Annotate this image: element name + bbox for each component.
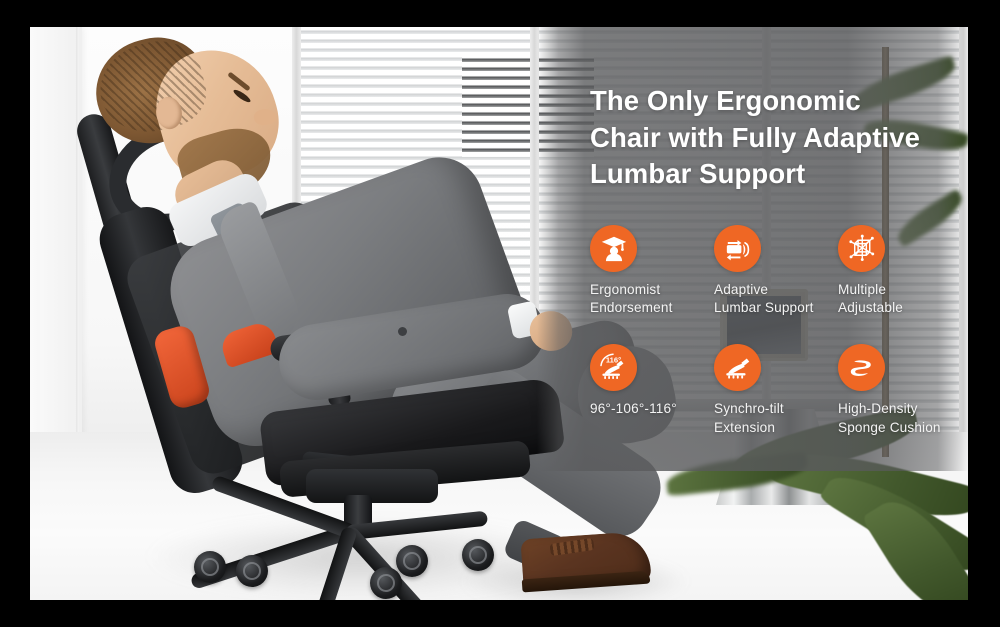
feature-adaptive-lumbar-support: Adaptive Lumbar Support [714,225,838,319]
chair-caster [370,567,402,599]
feature-label: Adaptive Lumbar Support [714,281,836,319]
feature-label-line-2: Sponge Cushion [838,419,960,438]
chair-tilt-mechanism [306,469,438,503]
feature-synchro-tilt: Synchro-tilt Extension [714,344,838,438]
sponge-cushion-icon [838,344,885,391]
adaptive-lumbar-icon [714,225,761,272]
feature-label: Multiple Adjustable [838,281,960,319]
feature-label-line-2: Lumbar Support [714,299,836,318]
feature-label-line-2: Extension [714,419,836,438]
adjustable-cube-icon [838,225,885,272]
graduate-person-icon [590,225,637,272]
feature-label: Ergonomist Endorsement [590,281,712,319]
feature-label-line-2: Endorsement [590,299,712,318]
feature-label-line-1: High-Density [838,400,960,419]
feature-label-line-1: Adaptive [714,281,836,300]
feature-grid: Ergonomist Endorsement [590,225,968,438]
feature-label-line-1: 96°-106°-116° [590,400,712,419]
chair-caster [462,539,494,571]
synchro-tilt-icon [714,344,761,391]
feature-label: Synchro-tilt Extension [714,400,836,438]
feature-label-line-2: Adjustable [838,299,960,318]
recline-angle-icon: 116° [590,344,637,391]
product-photo: The Only Ergonomic Chair with Fully Adap… [30,27,968,600]
feature-label-line-1: Ergonomist [590,281,712,300]
chair-caster [194,551,226,583]
feature-ergonomist-endorsement: Ergonomist Endorsement [590,225,714,319]
feature-label: 96°-106°-116° [590,400,712,419]
chair-caster [236,555,268,587]
chair-caster [396,545,428,577]
banner-frame: The Only Ergonomic Chair with Fully Adap… [0,0,1000,627]
feature-sponge-cushion: High-Density Sponge Cushion [838,344,962,438]
feature-label: High-Density Sponge Cushion [838,400,960,438]
headline-line-1: The Only Ergonomic [590,83,950,120]
feature-label-line-1: Synchro-tilt [714,400,836,419]
headline-line-2: Chair with Fully Adaptive [590,120,950,157]
headline: The Only Ergonomic Chair with Fully Adap… [590,83,950,193]
feature-recline-angle: 116° [590,344,714,438]
suit-button [398,327,407,336]
marketing-overlay-panel: The Only Ergonomic Chair with Fully Adap… [537,27,968,471]
headline-line-3: Lumbar Support [590,156,950,193]
feature-multiple-adjustable: Multiple Adjustable [838,225,962,319]
feature-label-line-1: Multiple [838,281,960,300]
